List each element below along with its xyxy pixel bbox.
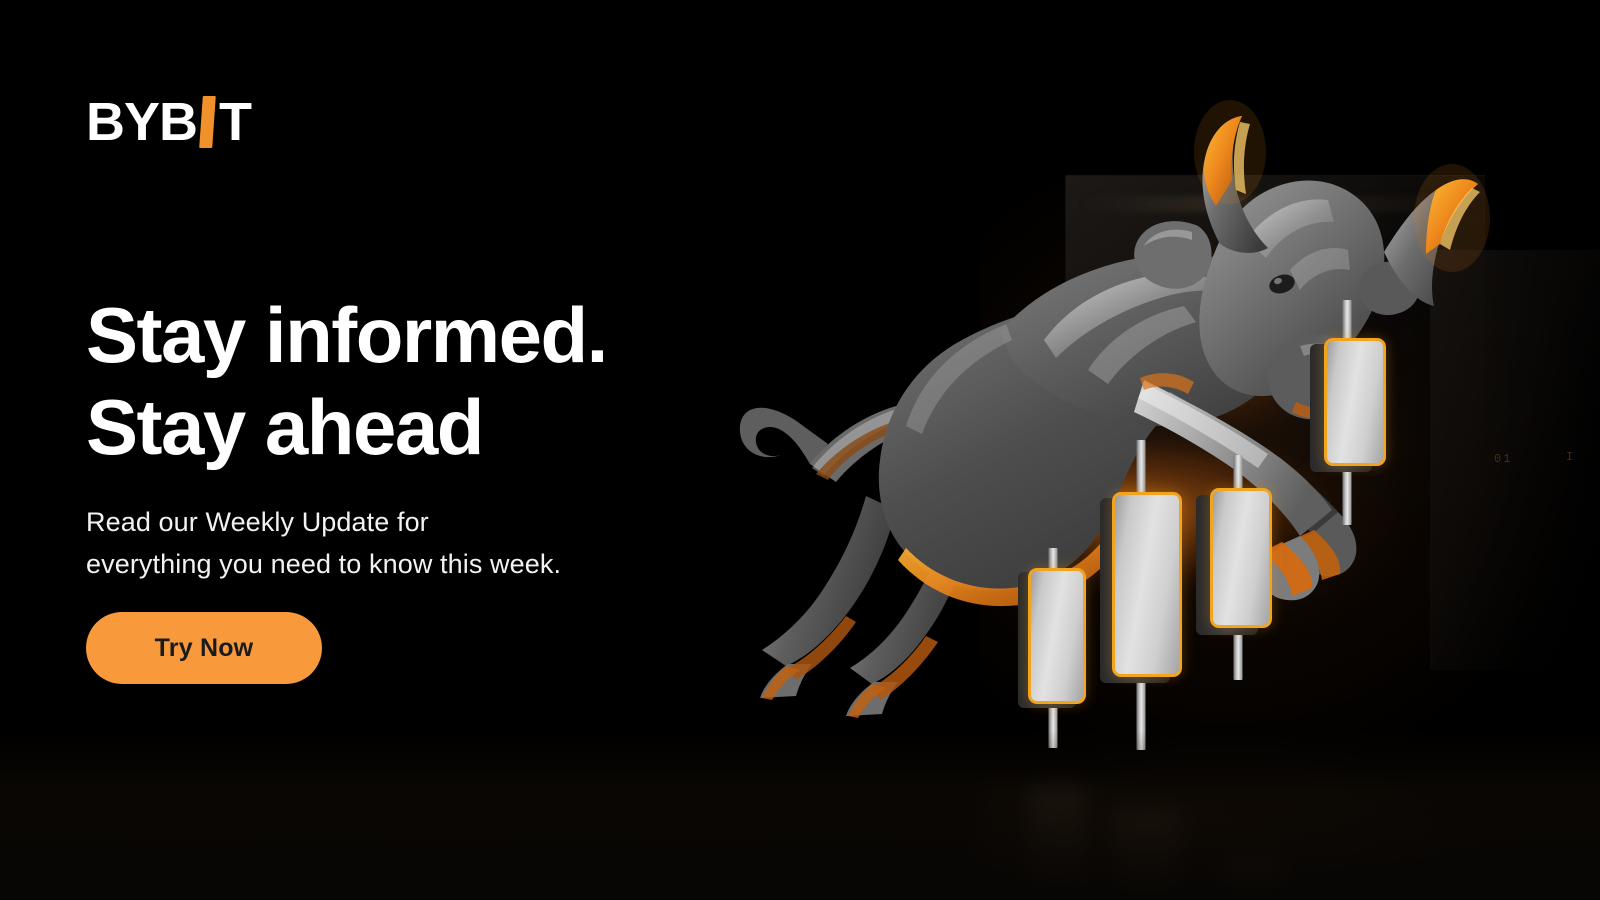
subtitle-line-1: Read our Weekly Update for — [86, 502, 726, 544]
page-title: Stay informed. Stay ahead — [86, 289, 766, 473]
bull-artwork — [700, 40, 1600, 900]
logo-text: BYBT — [86, 95, 251, 149]
logo-text-part1: BYB — [86, 95, 197, 149]
logo-text-part2: T — [219, 95, 251, 149]
headline-line-2: Stay ahead — [86, 381, 766, 473]
logo-accent-i — [199, 96, 216, 148]
subtitle-line-2: everything you need to know this week. — [86, 544, 726, 586]
bybit-logo[interactable]: BYBT — [86, 92, 251, 152]
hero-subtitle: Read our Weekly Update for everything yo… — [86, 502, 726, 586]
bybit-promo-banner: 01 I 01 — [0, 0, 1600, 900]
try-now-button[interactable]: Try Now — [86, 612, 322, 684]
headline-line-1: Stay informed. — [86, 289, 766, 381]
